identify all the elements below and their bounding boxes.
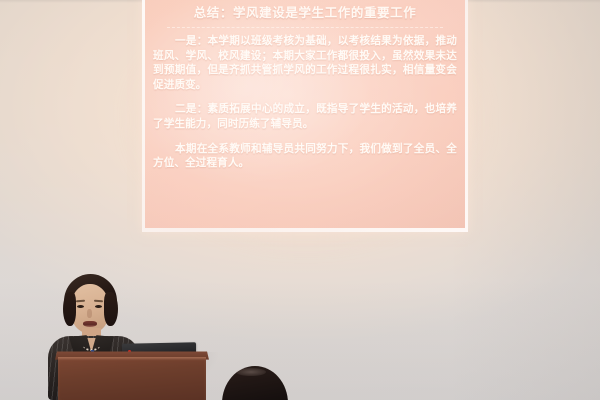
title-divider — [167, 27, 443, 28]
presenter-nose — [87, 309, 92, 318]
presenter-mouth — [83, 321, 97, 327]
slide-paragraph-2: 二是：素质拓展中心的成立，既指导了学生的活动，也培养了学生能力，同时历练了辅导员… — [153, 102, 457, 131]
podium-front — [58, 357, 206, 400]
slide-title: 总结：学风建设是学生工作的重要工作 — [145, 2, 465, 21]
presenter-hair-right — [104, 292, 118, 326]
presentation-photo-scene: 总结：学风建设是学生工作的重要工作 一是：本学期以班级考核为基础，以考核结果为依… — [0, 0, 600, 400]
presenter-eye-right — [95, 305, 102, 308]
slide-paragraph-1: 一是：本学期以班级考核为基础，以考核结果为依据，推动班风、学风、校风建设；本期大… — [153, 34, 457, 92]
presenter-eye-left — [77, 305, 84, 308]
projected-slide: 总结：学风建设是学生工作的重要工作 一是：本学期以班级考核为基础，以考核结果为依… — [145, 0, 465, 228]
audience-hair-highlight — [236, 368, 266, 376]
slide-body: 一是：本学期以班级考核为基础，以考核结果为依据，推动班风、学风、校风建设；本期大… — [153, 34, 457, 171]
podium-top-edge — [58, 357, 206, 360]
presenter-hair-left — [63, 292, 76, 326]
slide-paragraph-3: 本期在全系教师和辅导员共同努力下，我们做到了全员、全方位、全过程育人。 — [153, 142, 457, 171]
